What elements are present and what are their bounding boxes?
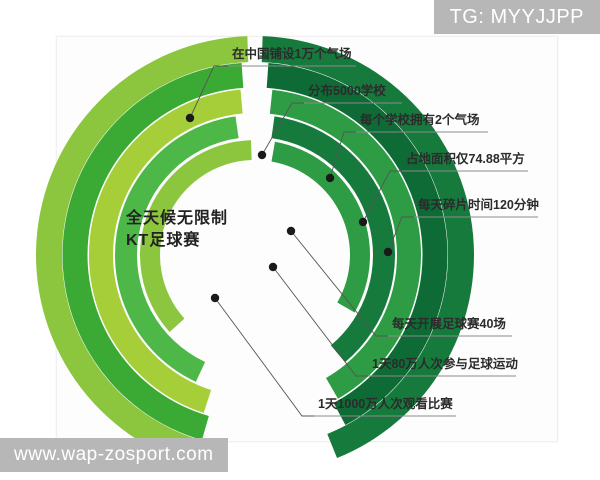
leader-line-c8	[215, 298, 314, 416]
callout-label-c7: 1天80万人次参与足球运动	[372, 358, 518, 371]
callout-label-c5: 每天碎片时间120分钟	[418, 199, 539, 212]
callout-label-c8: 1天1000万人次观看比赛	[318, 398, 453, 411]
callout-dot-c3[interactable]	[326, 174, 334, 182]
callout-dot-c6[interactable]	[287, 227, 295, 235]
callout-dot-c4[interactable]	[359, 218, 367, 226]
callout-dot-c1[interactable]	[186, 114, 194, 122]
callout-label-c2: 分布5000学校	[308, 85, 386, 98]
infographic-stage: 全天候无限制 KT足球赛 在中国铺设1万个气场分布5000学校每个学校拥有2个气…	[0, 0, 600, 480]
callout-label-c4: 占地面积仅74.88平方	[406, 153, 525, 166]
callout-dot-c2[interactable]	[258, 151, 266, 159]
watermark-bottom-left-text: www.wap-zosport.com	[14, 444, 214, 466]
watermark-top-right: TG: MYYJJPP	[434, 0, 600, 34]
callout-dot-c7[interactable]	[269, 263, 277, 271]
watermark-top-right-text: TG: MYYJJPP	[450, 6, 584, 29]
callout-dot-c8[interactable]	[211, 294, 219, 302]
watermark-bottom-left: www.wap-zosport.com	[0, 438, 228, 472]
radial-arc-chart	[0, 0, 600, 480]
callout-dot-c5[interactable]	[384, 248, 392, 256]
callout-label-c6: 每天开展足球赛40场	[392, 318, 506, 331]
center-title: 全天候无限制 KT足球赛	[126, 208, 228, 251]
callout-label-c3: 每个学校拥有2个气场	[360, 114, 479, 127]
callout-label-c1: 在中国铺设1万个气场	[232, 48, 351, 61]
